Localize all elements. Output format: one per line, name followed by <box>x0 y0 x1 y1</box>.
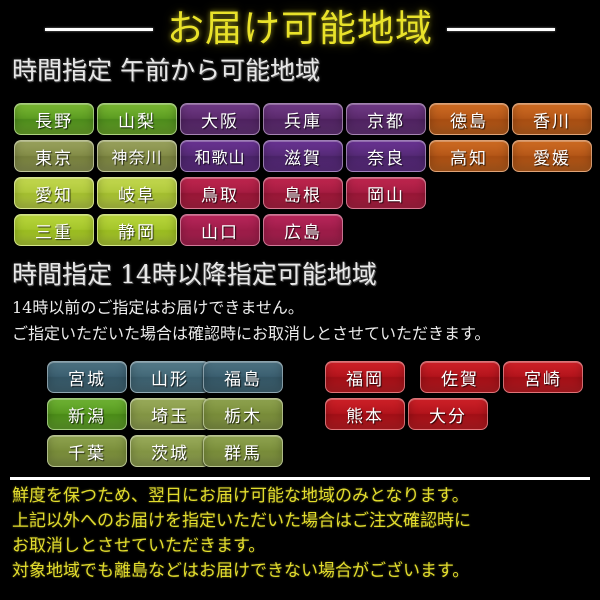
afternoon-prefecture-tag-13: 群馬 <box>203 435 283 467</box>
prefecture-label: 千葉 <box>68 439 106 464</box>
afternoon-prefecture-grid: 宮城山形福島福岡佐賀宮崎新潟埼玉栃木熊本大分千葉茨城群馬 <box>0 0 600 480</box>
afternoon-prefecture-tag-0: 宮城 <box>47 361 127 393</box>
footer-note-3: お取消しとさせていただきます。 <box>0 534 265 559</box>
afternoon-prefecture-tag-12: 茨城 <box>130 435 210 467</box>
prefecture-label: 大分 <box>429 402 467 427</box>
afternoon-prefecture-tag-4: 佐賀 <box>420 361 500 393</box>
afternoon-prefecture-tag-10: 大分 <box>408 398 488 430</box>
prefecture-label: 福岡 <box>346 365 384 390</box>
afternoon-prefecture-tag-2: 福島 <box>203 361 283 393</box>
footer-note-1: 鮮度を保つため、翌日にお届け可能な地域のみとなります。 <box>0 484 469 509</box>
footer-note-4: 対象地域でも離島などはお届けできない場合がございます。 <box>0 559 469 584</box>
prefecture-label: 茨城 <box>151 439 189 464</box>
afternoon-prefecture-tag-6: 新潟 <box>47 398 127 430</box>
prefecture-label: 埼玉 <box>151 402 189 427</box>
afternoon-prefecture-tag-9: 熊本 <box>325 398 405 430</box>
prefecture-label: 山形 <box>151 365 189 390</box>
afternoon-prefecture-tag-7: 埼玉 <box>130 398 210 430</box>
prefecture-label: 熊本 <box>346 402 384 427</box>
footer-divider <box>10 477 590 480</box>
prefecture-label: 宮城 <box>68 365 106 390</box>
prefecture-label: 福島 <box>224 365 262 390</box>
afternoon-prefecture-tag-3: 福岡 <box>325 361 405 393</box>
prefecture-label: 佐賀 <box>441 365 479 390</box>
prefecture-label: 群馬 <box>224 439 262 464</box>
afternoon-prefecture-tag-5: 宮崎 <box>503 361 583 393</box>
footer-note-2: 上記以外へのお届けを指定いただいた場合はご注文確認時に <box>0 509 471 534</box>
afternoon-prefecture-tag-8: 栃木 <box>203 398 283 430</box>
delivery-area-banner: お届け可能地域 時間指定 午前から可能地域 長野山梨大阪兵庫京都徳島香川東京神奈… <box>0 0 600 600</box>
prefecture-label: 宮崎 <box>524 365 562 390</box>
afternoon-prefecture-tag-1: 山形 <box>130 361 210 393</box>
prefecture-label: 栃木 <box>224 402 262 427</box>
afternoon-prefecture-tag-11: 千葉 <box>47 435 127 467</box>
prefecture-label: 新潟 <box>68 402 106 427</box>
